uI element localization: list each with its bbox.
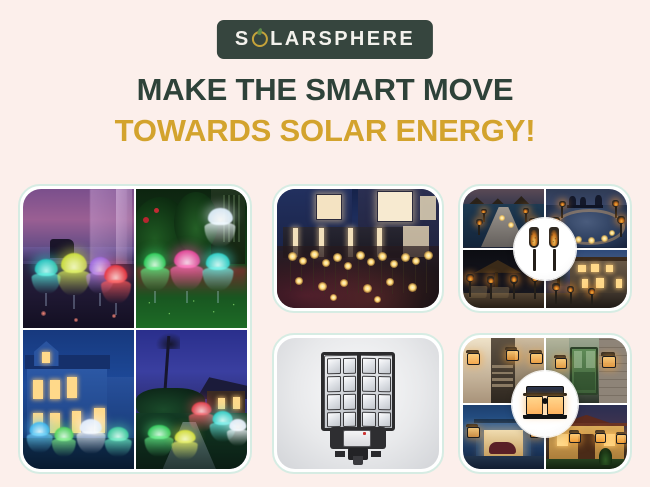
brand-logo: S LARSPHERE [217, 20, 433, 59]
gallery-card-jellyfish-lights[interactable] [18, 184, 252, 474]
photo-jellyfish-garden-bed [136, 189, 247, 328]
photo-jellyfish-twilight-yard [136, 330, 247, 469]
gallery-card-street-light[interactable] [272, 333, 444, 474]
sun-leaf-icon [252, 31, 268, 47]
brand-name-prefix: S [235, 29, 251, 49]
gallery-card-wall-lights[interactable] [458, 333, 632, 474]
card-inner [277, 189, 439, 308]
gallery-card-firefly-lights[interactable] [272, 184, 444, 313]
card-inner [463, 189, 627, 308]
headline-block: MAKE THE SMART MOVE TOWARDS SOLAR ENERGY… [0, 74, 650, 147]
brand-name-suffix: LARSPHERE [270, 29, 415, 49]
gallery-card-flame-torch-lights[interactable] [458, 184, 632, 313]
card-inner [277, 338, 439, 469]
photo-jellyfish-blue-house [23, 330, 134, 469]
product-overlay-flame-torches[interactable] [514, 218, 576, 280]
card-inner [463, 338, 627, 469]
headline-line-2: TOWARDS SOLAR ENERGY! [0, 115, 650, 148]
street-light-panel-right [359, 355, 394, 431]
headline-line-1: MAKE THE SMART MOVE [0, 74, 650, 107]
photo-grid-2x2 [23, 189, 247, 469]
poster-canvas: S LARSPHERE MAKE THE SMART MOVE TOWARDS … [0, 0, 650, 487]
brand-logo-text: S LARSPHERE [235, 29, 415, 49]
photo-jellyfish-beach-patio [23, 189, 134, 328]
photo-firefly-garden [277, 189, 439, 308]
card-inner [23, 189, 247, 469]
street-light-panel-left [324, 355, 359, 431]
motion-sensor-icon [542, 398, 548, 404]
street-light-remote [343, 430, 371, 447]
product-overlay-wall-light[interactable] [512, 371, 578, 437]
photo-solar-street-light [277, 338, 439, 469]
